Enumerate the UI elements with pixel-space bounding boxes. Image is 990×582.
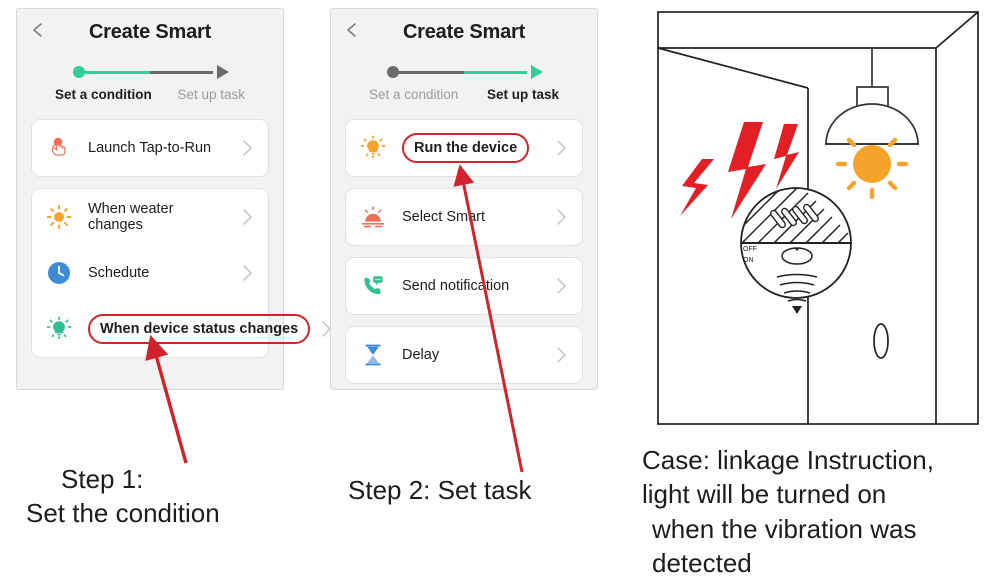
phone-screen-step2: Create Smart Set a condition Set up task (330, 8, 598, 390)
list-item-label: Launch Tap-to-Run (88, 140, 231, 156)
step-label-condition: Set a condition (55, 87, 152, 102)
chevron-right-icon (545, 207, 568, 227)
step-progress-2: Set a condition Set up task (331, 65, 597, 119)
list-item-label: When device status changes (88, 314, 310, 344)
phone-screen-step1: Create Smart Set a condition Set up task (16, 8, 284, 390)
room-illustration: OFF ON (636, 4, 986, 429)
sensor-switch-label-on: ON (743, 257, 754, 264)
caption-step1: Step 1: Set the condition (26, 462, 326, 531)
sensor-switch-label-off: OFF (743, 246, 757, 253)
tap-hand-icon (44, 133, 74, 163)
progress-segment-left (393, 71, 464, 74)
list-item-label: Send notification (402, 278, 545, 294)
caption-step2: Step 2: Set task (348, 473, 618, 507)
progress-arrowhead (217, 65, 229, 79)
progress-arrowhead (531, 65, 543, 79)
orange-bulb-icon (358, 133, 388, 163)
page-title: Create Smart (17, 9, 283, 55)
green-bulb-icon (44, 314, 74, 344)
caption-case-line1: Case: linkage Instruction, (642, 443, 990, 477)
clock-schedule-icon (44, 258, 74, 288)
list-item-run-the-device[interactable]: Run the device (346, 120, 582, 176)
sun-weather-icon (44, 202, 74, 232)
progress-dot (387, 66, 399, 78)
option-card-delay: Delay (345, 326, 583, 384)
caption-case-line2: light will be turned on (642, 477, 990, 511)
pendant-lamp-lit (825, 48, 919, 197)
progress-dot (73, 66, 85, 78)
caption-step2-line1: Step 2: Set task (348, 473, 618, 507)
step-progress-1: Set a condition Set up task (17, 65, 283, 119)
hourglass-delay-icon (358, 340, 388, 370)
navigation-bar-1: Create Smart (17, 9, 283, 59)
list-item-launch-tap-to-run[interactable]: Launch Tap-to-Run (32, 120, 268, 176)
navigation-bar-2: Create Smart (331, 9, 597, 59)
progress-segment-right (150, 71, 213, 74)
progress-segment-left (79, 71, 150, 74)
option-card-group-1: Launch Tap-to-Run (31, 119, 269, 177)
step-label-task: Set up task (177, 87, 245, 102)
chevron-right-icon (231, 138, 254, 158)
option-card-group-2: When weater changes Schedute (31, 188, 269, 358)
option-card-run-device: Run the device (345, 119, 583, 177)
caption-step1-line1: Step 1: (26, 462, 326, 496)
caption-case-line4: detected (642, 546, 990, 580)
door-handle (874, 324, 888, 358)
step-label-task: Set up task (487, 87, 559, 102)
sunrise-smart-icon (358, 202, 388, 232)
slide-canvas: Create Smart Set a condition Set up task (0, 0, 990, 582)
progress-track (387, 65, 541, 81)
chevron-right-icon (545, 276, 568, 296)
list-item-label: Select Smart (402, 209, 545, 225)
chevron-right-icon (545, 138, 568, 158)
list-item-label: When weater changes (88, 201, 231, 233)
chevron-right-icon (231, 207, 254, 227)
page-title: Create Smart (331, 9, 597, 55)
list-item-send-notification[interactable]: Send notification (346, 258, 582, 314)
list-item-select-smart[interactable]: Select Smart (346, 189, 582, 245)
list-item-when-device-status-changes[interactable]: When device status changes (32, 301, 268, 357)
list-item-when-weather-changes[interactable]: When weater changes (32, 189, 268, 245)
chevron-left-icon[interactable] (343, 21, 361, 39)
chevron-left-icon[interactable] (29, 21, 47, 39)
caption-case-line3: when the vibration was (642, 512, 990, 546)
list-item-delay[interactable]: Delay (346, 327, 582, 383)
option-card-send-notification: Send notification (345, 257, 583, 315)
progress-segment-right (464, 71, 527, 74)
progress-track (73, 65, 227, 81)
list-item-label: Schedute (88, 265, 231, 281)
list-item-schedule[interactable]: Schedute (32, 245, 268, 301)
list-item-label: Delay (402, 347, 545, 363)
phone-notification-icon (358, 271, 388, 301)
option-card-select-smart: Select Smart (345, 188, 583, 246)
chevron-right-icon (231, 263, 254, 283)
caption-case: Case: linkage Instruction, light will be… (642, 443, 990, 580)
step-label-condition: Set a condition (369, 87, 458, 102)
chevron-right-icon (545, 345, 568, 365)
list-item-label: Run the device (402, 133, 529, 163)
caption-step1-line2: Set the condition (26, 496, 326, 530)
